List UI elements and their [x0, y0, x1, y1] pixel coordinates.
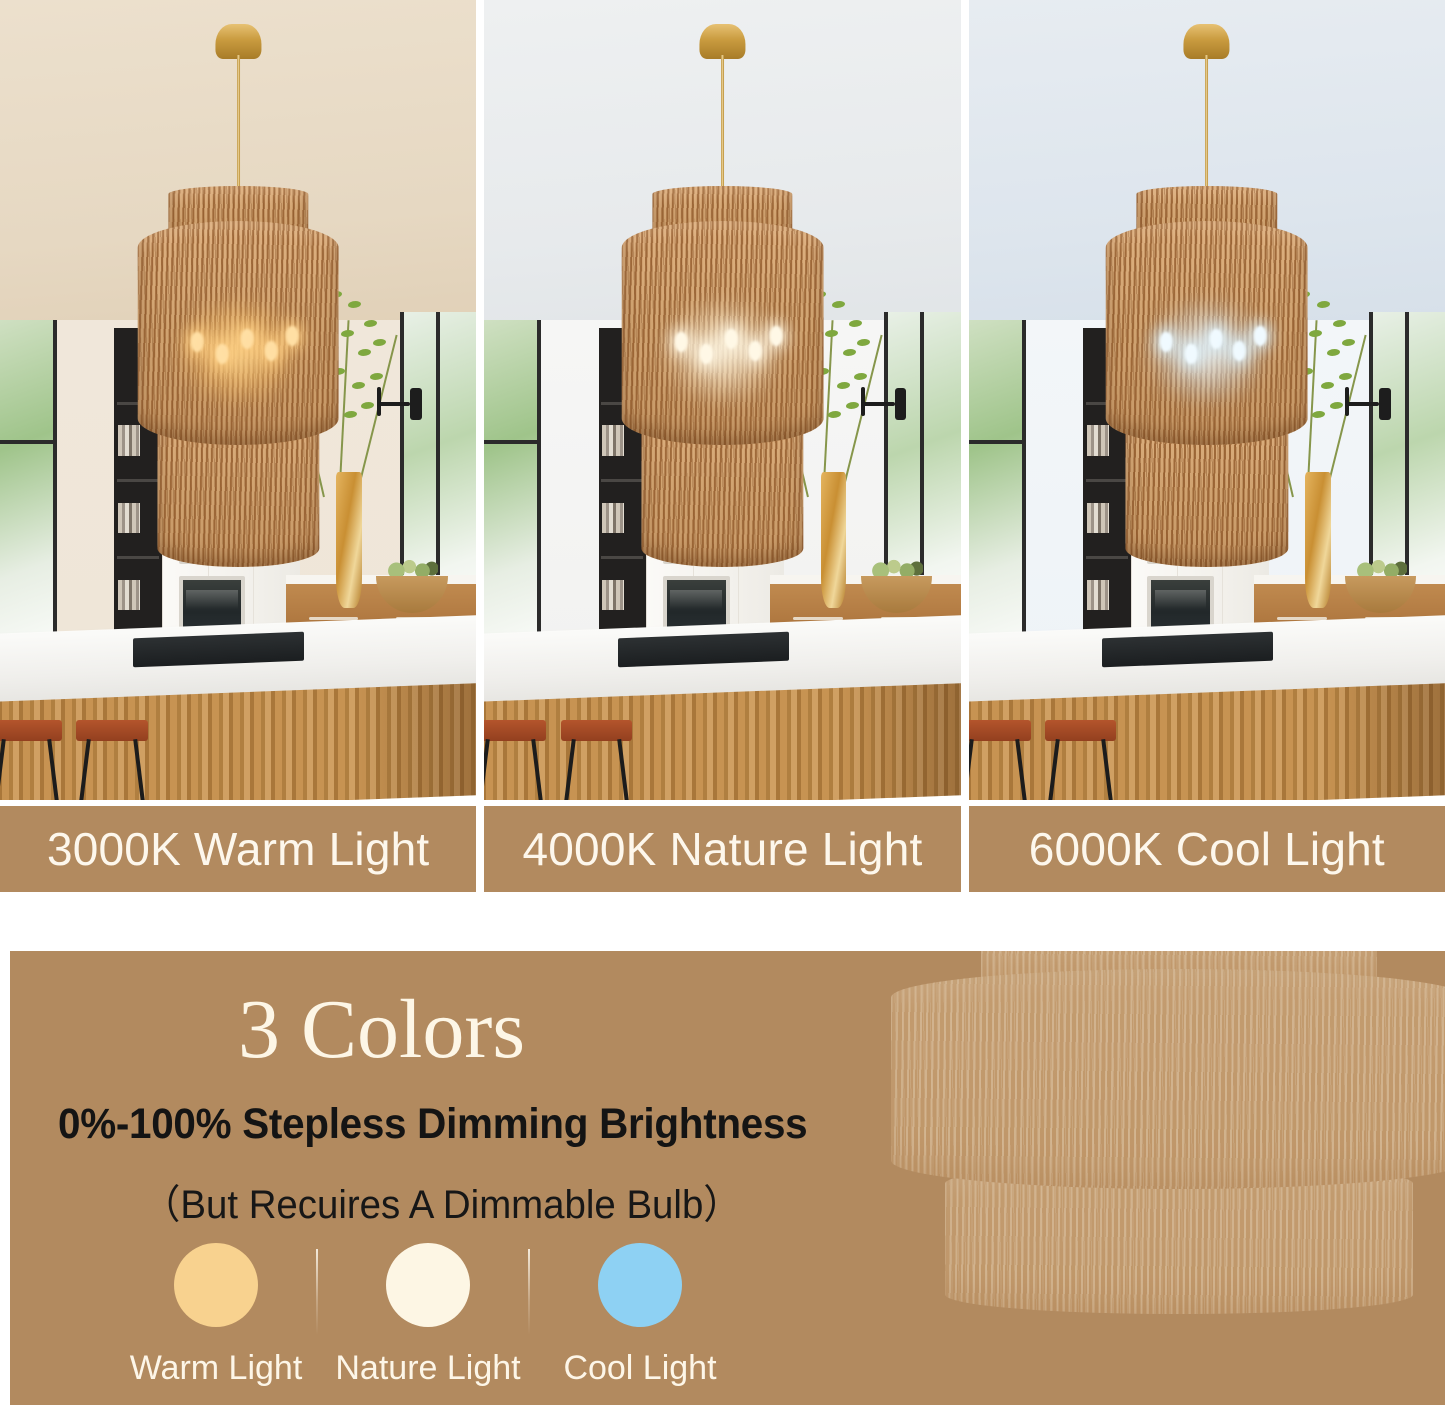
comparison-column-cool: 6000K Cool Light — [969, 0, 1445, 892]
window-left — [0, 320, 57, 672]
kitchen-photo-warm — [0, 0, 476, 800]
brass-canopy — [215, 24, 261, 59]
brass-canopy — [699, 24, 745, 59]
island-wood-base — [0, 682, 476, 800]
wall-sconce — [1340, 376, 1392, 432]
swatch-divider — [528, 1249, 530, 1335]
island-wood-base — [484, 682, 960, 800]
island-wood-base — [969, 682, 1445, 800]
bar-stool — [0, 720, 62, 800]
bulb-cluster — [1141, 311, 1272, 386]
swatch-divider — [316, 1249, 318, 1335]
wall-sconce — [372, 376, 424, 432]
brass-downrod — [1205, 55, 1208, 199]
brass-canopy — [1184, 24, 1230, 59]
feature-subtitle: 0%-100% Stepless Dimming Brightness — [58, 1100, 807, 1149]
color-temperature-comparison-grid: 3000K Warm Light — [0, 0, 1445, 892]
swatch-label-warm: Warm Light — [130, 1349, 303, 1388]
rattan-pendant-lamp — [129, 24, 348, 648]
color-swatch-row: Warm Light Nature Light Cool Light — [110, 1243, 770, 1393]
rattan-pendant-lamp — [613, 24, 832, 648]
caption-nature: 4000K Nature Light — [484, 806, 960, 892]
swatch-label-cool: Cool Light — [563, 1349, 716, 1388]
comparison-column-warm: 3000K Warm Light — [0, 0, 476, 892]
feature-title: 3 Colors — [238, 988, 525, 1072]
swatch-cool-light[interactable]: Cool Light — [534, 1243, 746, 1393]
swatch-dot-cool — [598, 1243, 682, 1327]
caption-cool: 6000K Cool Light — [969, 806, 1445, 892]
swatch-nature-light[interactable]: Nature Light — [322, 1243, 534, 1393]
bulb-cluster — [657, 311, 788, 386]
bar-stool — [76, 720, 147, 800]
rattan-pendant-lamp-watermark-icon — [879, 951, 1445, 1405]
feature-note: （But Recuires A Dimmable Bulb） — [142, 1172, 742, 1230]
swatch-dot-nature — [386, 1243, 470, 1327]
rattan-pendant-lamp — [1097, 24, 1316, 648]
bulb-cluster — [172, 311, 303, 386]
swatch-label-nature: Nature Light — [335, 1349, 520, 1388]
swatch-warm-light[interactable]: Warm Light — [110, 1243, 322, 1393]
bar-stool — [1045, 720, 1116, 800]
kitchen-photo-cool — [969, 0, 1445, 800]
brass-downrod — [721, 55, 724, 199]
bar-stool — [484, 720, 546, 800]
wall-sconce — [856, 376, 908, 432]
brass-downrod — [237, 55, 240, 199]
window-left — [484, 320, 541, 672]
caption-warm: 3000K Warm Light — [0, 806, 476, 892]
kitchen-photo-nature — [484, 0, 960, 800]
bar-stool — [969, 720, 1031, 800]
bar-stool — [561, 720, 632, 800]
comparison-column-nature: 4000K Nature Light — [484, 0, 960, 892]
swatch-dot-warm — [174, 1243, 258, 1327]
window-left — [969, 320, 1026, 672]
